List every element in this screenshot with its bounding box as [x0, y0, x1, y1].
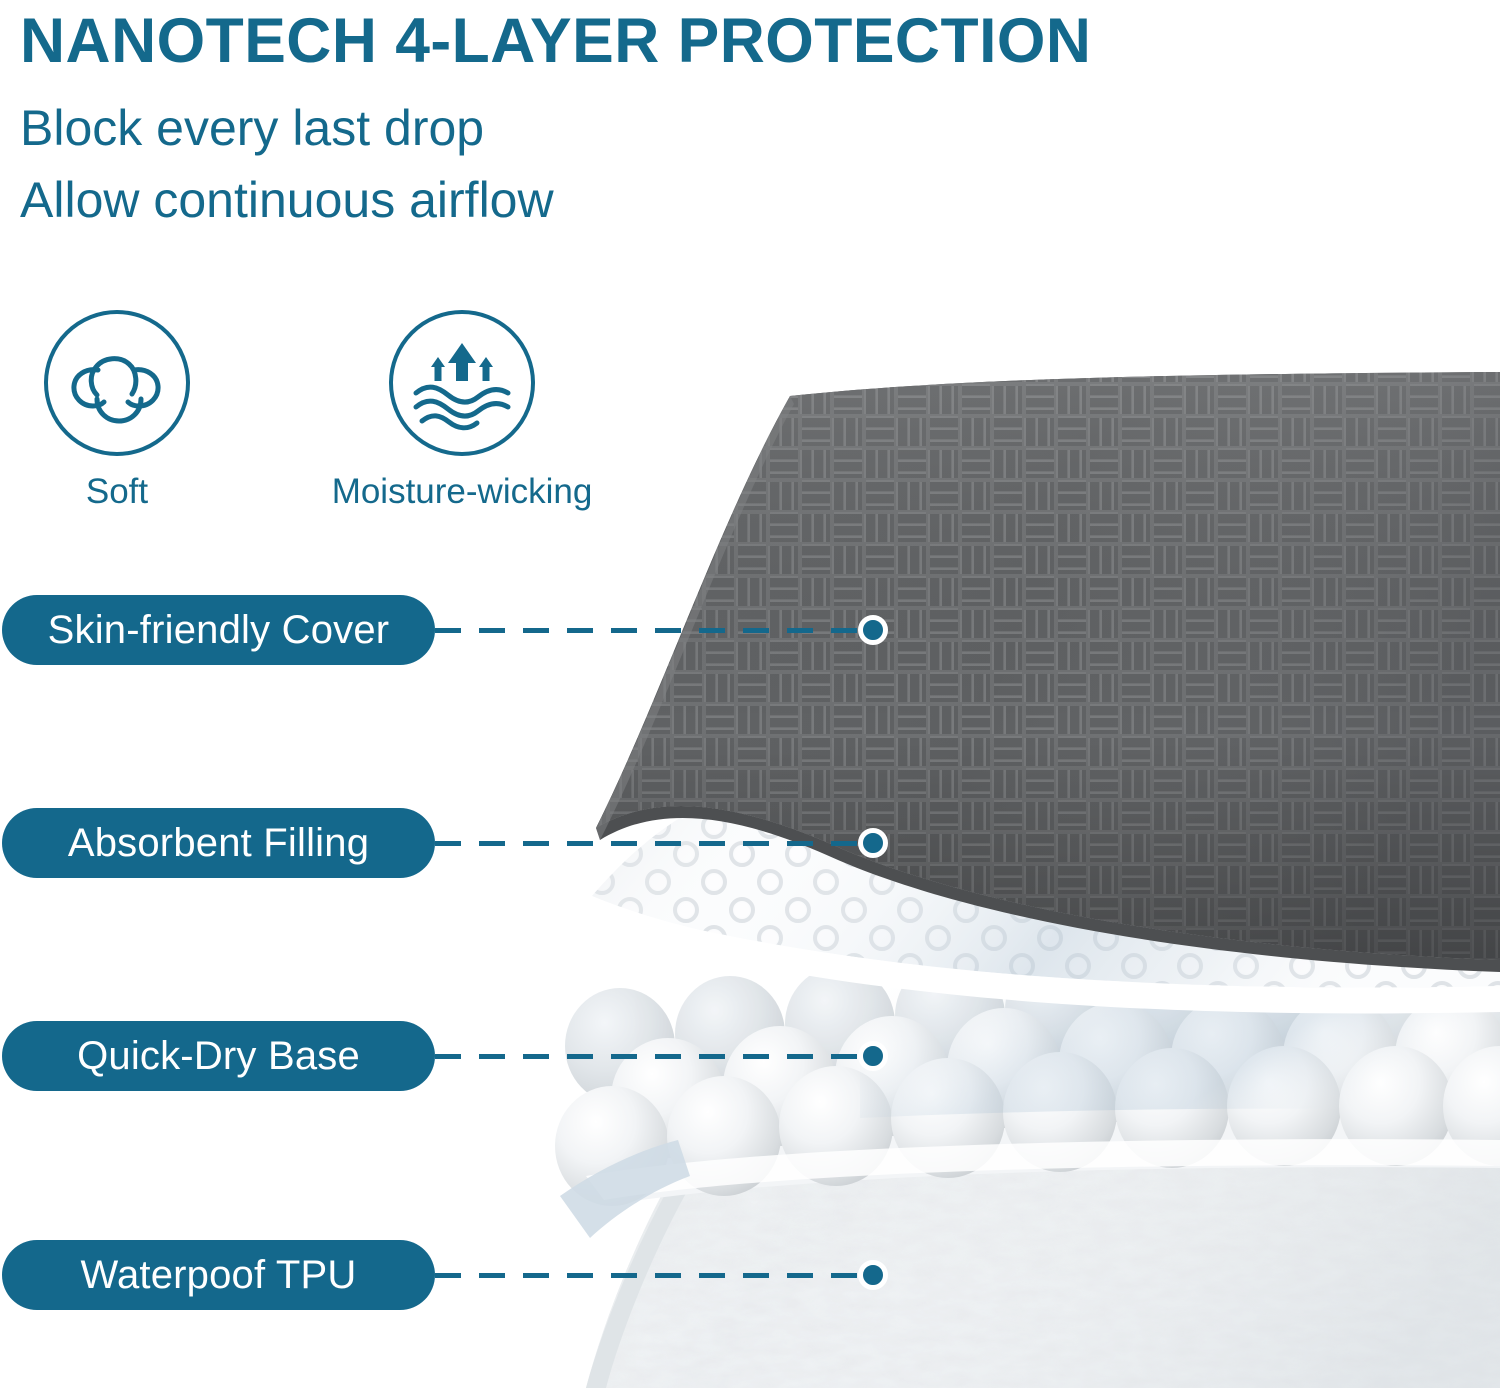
callout-quick-dry-base[interactable]: Quick-Dry Base: [2, 1021, 888, 1091]
layer-pill-1-label: Skin-friendly Cover: [48, 608, 390, 652]
layer-dot-icon-2: [858, 828, 888, 858]
layer-dot-icon-3: [858, 1041, 888, 1071]
layer-pill-3-label: Quick-Dry Base: [77, 1034, 360, 1078]
callout-waterproof-tpu[interactable]: Waterpoof TPU: [2, 1240, 888, 1310]
layer-dot-icon-1: [858, 615, 888, 645]
layer-pill-3[interactable]: Quick-Dry Base: [2, 1021, 435, 1091]
layer-pill-4[interactable]: Waterpoof TPU: [2, 1240, 435, 1310]
leader-line-2: [435, 841, 862, 846]
infographic-page: NANOTECH 4-LAYER PROTECTION Block every …: [0, 0, 1500, 1388]
callout-absorbent-filling[interactable]: Absorbent Filling: [2, 808, 888, 878]
callout-skin-friendly-cover[interactable]: Skin-friendly Cover: [2, 595, 888, 665]
layer-stack-illustration: [0, 0, 1500, 1388]
leader-line-4: [435, 1273, 862, 1278]
layer-pill-2[interactable]: Absorbent Filling: [2, 808, 435, 878]
layer-pill-1[interactable]: Skin-friendly Cover: [2, 595, 435, 665]
layer-dot-icon-4: [858, 1260, 888, 1290]
layer-pill-2-label: Absorbent Filling: [68, 821, 369, 865]
leader-line-3: [435, 1054, 862, 1059]
leader-line-1: [435, 628, 862, 633]
layer-pill-4-label: Waterpoof TPU: [80, 1253, 356, 1297]
